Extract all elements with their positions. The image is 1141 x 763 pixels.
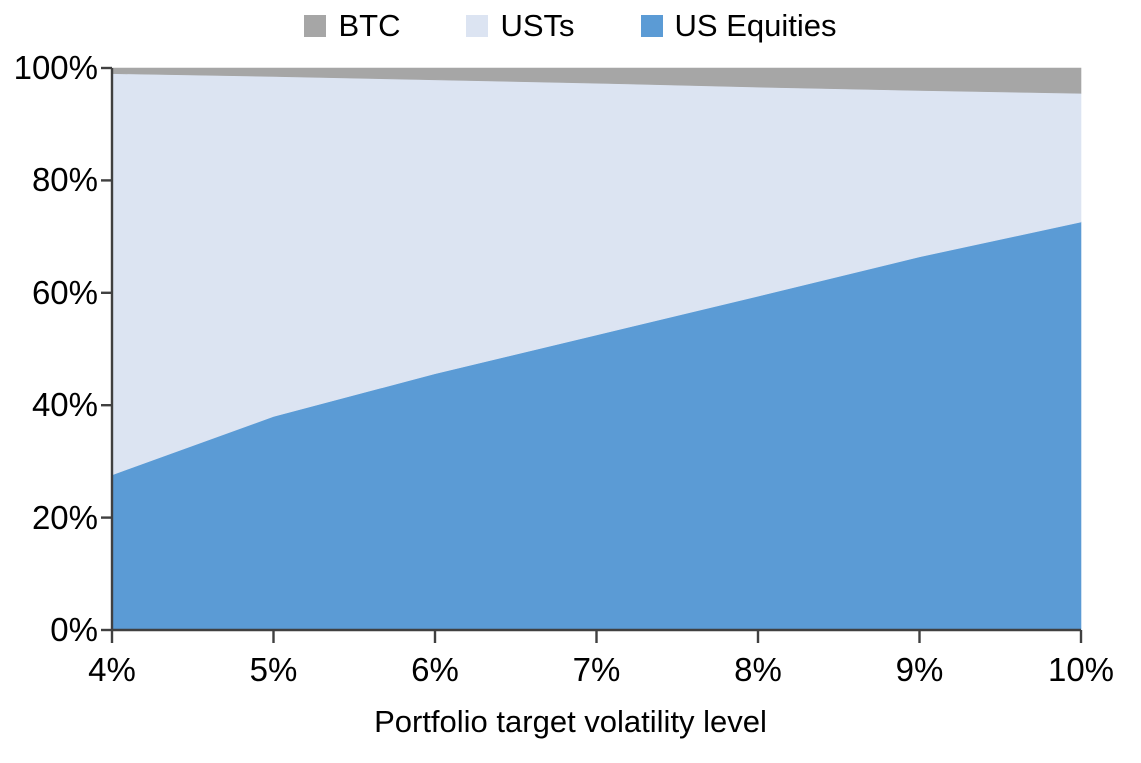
y-axis-tick-label: 60% [0, 276, 98, 309]
x-axis-tick-label: 7% [573, 653, 621, 686]
y-axis-tick-label: 20% [0, 501, 98, 534]
x-axis-tick-label: 10% [1048, 653, 1114, 686]
y-axis-tick-label: 100% [0, 51, 98, 84]
y-axis-tick-label: 80% [0, 163, 98, 196]
y-axis-tick-label: 0% [0, 613, 98, 646]
y-axis-tick-label: 40% [0, 388, 98, 421]
x-axis-tick-labels: 4%5%6%7%8%9%10% [0, 645, 1141, 693]
x-axis-tick-label: 6% [411, 653, 459, 686]
x-axis-tick-label: 9% [896, 653, 944, 686]
x-axis-title: Portfolio target volatility level [0, 706, 1141, 737]
x-axis-tick-label: 5% [250, 653, 298, 686]
stacked-area-chart: BTC USTs US Equities 0%20%40%60%80%100% … [0, 0, 1141, 763]
x-axis-tick-label: 8% [734, 653, 782, 686]
x-axis-tick-label: 4% [88, 653, 136, 686]
